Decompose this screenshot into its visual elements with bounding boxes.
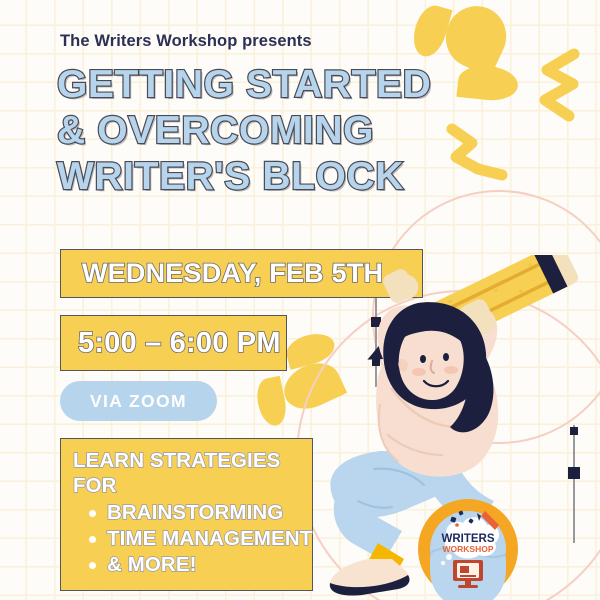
- list-item: TIME MANAGEMENT: [89, 526, 302, 552]
- eye: [420, 355, 426, 363]
- petal-shape: [408, 2, 452, 61]
- list-item: & MORE!: [89, 552, 302, 578]
- time-banner: 5:00 – 6:00 PM: [60, 315, 287, 371]
- squiggle-shape: [533, 48, 589, 126]
- topics-list: BRAINSTORMING TIME MANAGEMENT & MORE!: [73, 500, 302, 578]
- presenter-line: The Writers Workshop presents: [60, 32, 312, 51]
- title-line-1: GETTING STARTED: [57, 62, 487, 108]
- logo-badge: WRITERS WORKSHOP: [413, 497, 523, 600]
- platform-badge: VIA ZOOM: [60, 381, 217, 421]
- topics-heading: LEARN STRATEGIES FOR: [73, 448, 302, 498]
- logo-line-2: WORKSHOP: [443, 544, 494, 554]
- title-line-3: WRITER'S BLOCK: [57, 154, 487, 200]
- petal-shape: [253, 376, 289, 429]
- poster-canvas: The Writers Workshop presents GETTING ST…: [0, 0, 600, 600]
- title-line-2: & OVERCOMING: [57, 108, 487, 154]
- shoe: [330, 559, 410, 596]
- list-item: BRAINSTORMING: [89, 500, 302, 526]
- page-title: GETTING STARTED & OVERCOMING WRITER'S BL…: [57, 62, 487, 200]
- topics-box: LEARN STRATEGIES FOR BRAINSTORMING TIME …: [60, 438, 313, 591]
- eye: [443, 353, 449, 361]
